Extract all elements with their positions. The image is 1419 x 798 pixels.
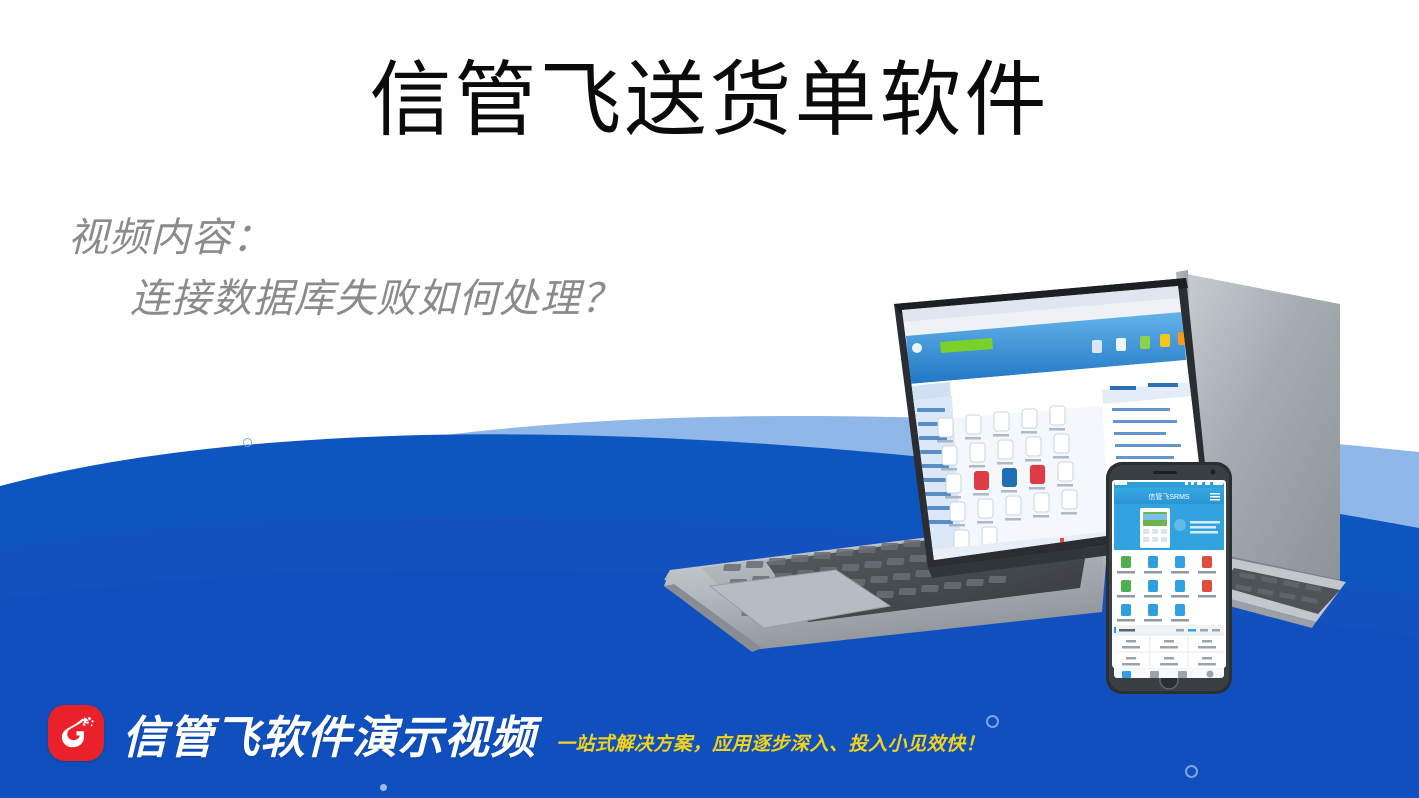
- svg-text:信管飞SRMS: 信管飞SRMS: [1148, 492, 1190, 501]
- video-content-block: 视频内容： 连接数据库失败如何处理？: [68, 208, 622, 330]
- footer-branding-bar: 信管飞软件演示视频 一站式解决方案，应用逐步深入、投入小见效快！: [0, 668, 1419, 798]
- device-photo-group: 信管飞SRMS: [640, 250, 1419, 710]
- decor-dot-fill-1: [380, 784, 387, 791]
- decor-dot-ring-2: [1185, 765, 1198, 778]
- video-content-topic: 连接数据库失败如何处理？: [68, 269, 622, 330]
- page-title: 信管飞送货单软件: [0, 58, 1419, 144]
- xinguanfei-bird-logo-icon: [48, 705, 104, 761]
- video-content-label: 视频内容：: [68, 208, 622, 269]
- brand-tagline: 一站式解决方案，应用逐步深入、投入小见效快！: [556, 729, 985, 756]
- brand-name: 信管飞软件演示视频: [122, 701, 536, 766]
- decor-dot-ring-1: [986, 715, 999, 728]
- decor-dot-ring-3: [243, 438, 252, 447]
- hamburger-menu-icon: [1210, 493, 1220, 501]
- presentation-slide: 信管飞SRMS: [0, 0, 1419, 798]
- smartphone: 信管飞SRMS: [1106, 462, 1232, 694]
